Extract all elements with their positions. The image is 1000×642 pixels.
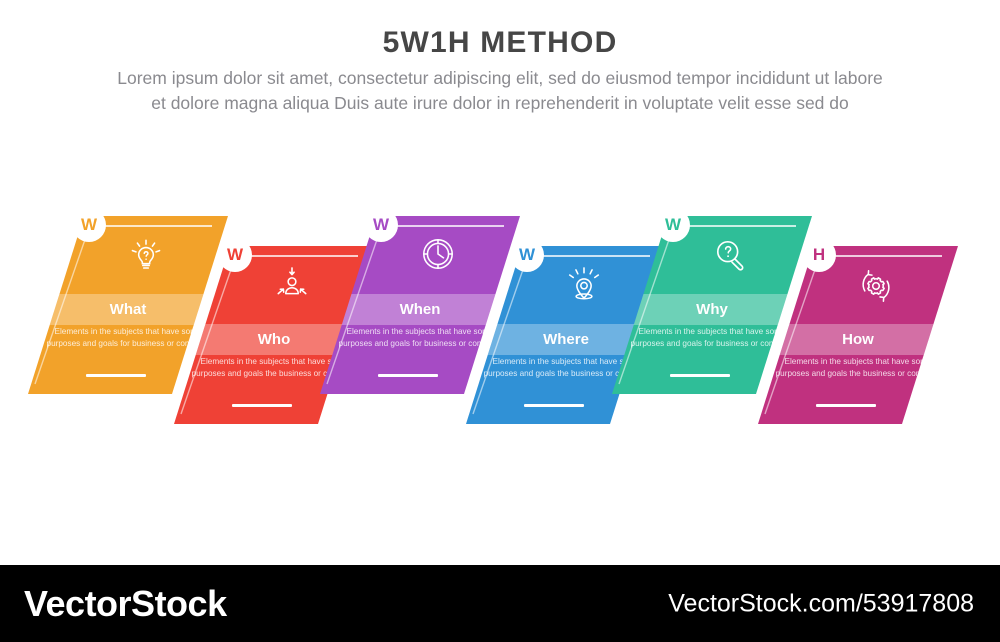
panel-top-rule: [392, 225, 504, 227]
panel-badge-w: W: [218, 238, 252, 272]
panel-bottom-dash: [232, 404, 292, 407]
panel-bottom-dash: [816, 404, 876, 407]
panel-badge-w: W: [656, 208, 690, 242]
panel-badge-h: H: [802, 238, 836, 272]
panel-top-rule: [684, 225, 796, 227]
panel-bottom-dash: [86, 374, 146, 377]
magnifier-question-icon: [708, 232, 752, 276]
panel-badge-w: W: [72, 208, 106, 242]
diagram-5w1h: WhatElements in the subjects that have s…: [0, 0, 1000, 560]
vectorstock-url: VectorStock.com/53917808: [668, 589, 974, 618]
panel-label: How: [758, 331, 958, 348]
infographic-canvas: 5W1H METHOD Lorem ipsum dolor sit amet, …: [0, 0, 1000, 642]
panel-how[interactable]: HowElements in the subjects that have so…: [758, 246, 958, 424]
lightbulb-question-icon: [124, 232, 168, 276]
panel-badge-w: W: [510, 238, 544, 272]
panel-bottom-dash: [378, 374, 438, 377]
vectorstock-logo: VectorStock: [24, 583, 227, 625]
panel-top-rule: [830, 255, 942, 257]
panel-badge-w: W: [364, 208, 398, 242]
panel-top-rule: [100, 225, 212, 227]
clock-icon: [416, 232, 460, 276]
map-pin-icon: [562, 262, 606, 306]
gear-refresh-icon: [854, 262, 898, 306]
watermark-footer: VectorStock VectorStock.com/53917808: [0, 565, 1000, 642]
panel-bottom-dash: [670, 374, 730, 377]
panel-description: Elements in the subjects that have some …: [758, 356, 958, 379]
person-arrows-icon: [270, 262, 314, 306]
panel-bottom-dash: [524, 404, 584, 407]
